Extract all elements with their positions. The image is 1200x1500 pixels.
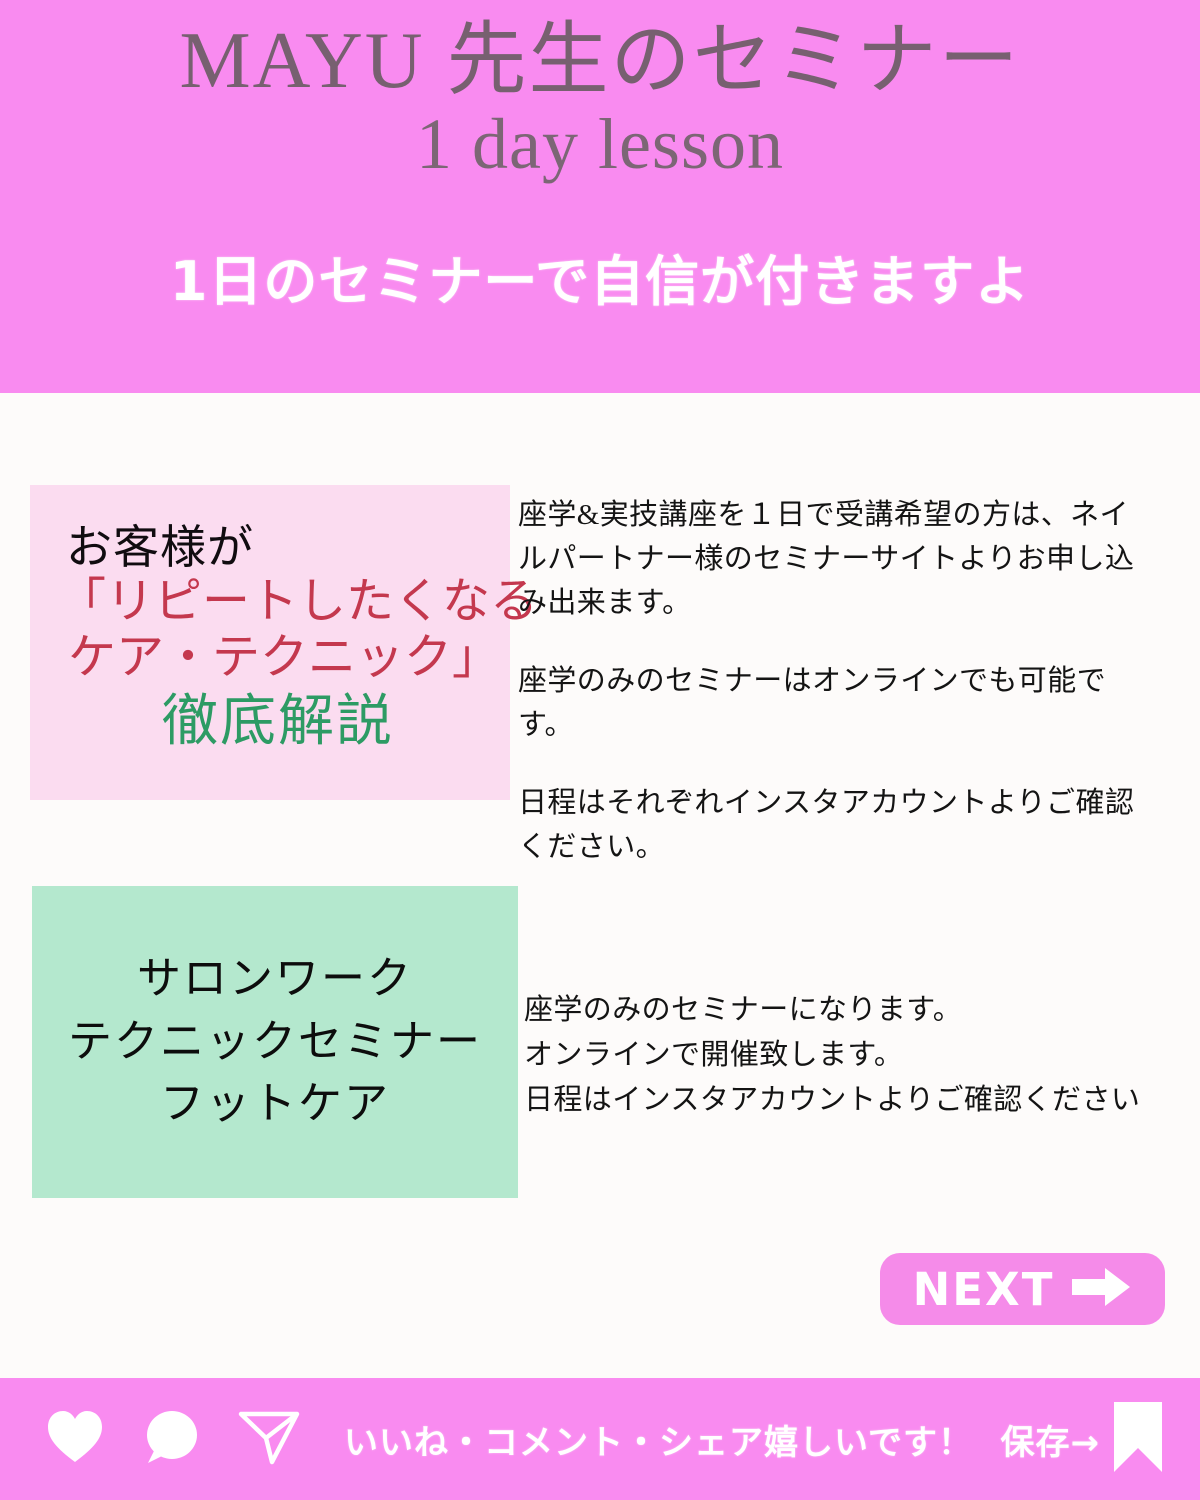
share-icon[interactable] xyxy=(238,1408,300,1471)
next-button-label: NEXT xyxy=(913,1267,1055,1312)
section-2-description: 座学のみのセミナーになります。 オンラインで開催致します。 日程はインスタアカウ… xyxy=(524,886,1182,1124)
green-box-line-2: テクニックセミナー xyxy=(68,1011,482,1073)
header-banner: MAYU 先生のセミナー 1 day lesson 1日のセミナーで自信が付きま… xyxy=(0,0,1200,393)
section-1-description: 座学&実技講座を１日で受講希望の方は、ネイルパートナー様のセミナーサイトよりお申… xyxy=(518,485,1158,870)
page-title-line-1: MAYU 先生のセミナー xyxy=(179,18,1020,104)
engagement-caption: いいね・コメント・シェア嬉しいです！ xyxy=(344,1415,973,1464)
green-highlight-box: サロンワーク テクニックセミナー フットケア xyxy=(32,886,518,1198)
section-2-paragraph-1: 座学のみのセミナーになります。 xyxy=(524,988,1182,1033)
engagement-icon-group xyxy=(46,1408,300,1471)
section-1-paragraph-2: 座学のみのセミナーはオンラインでも可能です。 xyxy=(518,659,1158,747)
section-salon-work-foot-care: サロンワーク テクニックセミナー フットケア 座学のみのセミナーになります。 オ… xyxy=(32,886,1182,1198)
next-button[interactable]: NEXT xyxy=(880,1253,1165,1325)
page-title-line-2: 1 day lesson xyxy=(416,104,784,185)
save-label: 保存→ xyxy=(1001,1415,1101,1464)
pink-highlight-box: お客様が 「リピートしたくなる ケア・テクニック」 徹底解説 xyxy=(30,485,510,800)
heart-icon[interactable] xyxy=(46,1410,104,1469)
green-box-line-1: サロンワーク xyxy=(137,948,413,1010)
section-2-paragraph-3: 日程はインスタアカウントよりご確認ください xyxy=(524,1078,1182,1123)
section-1-paragraph-1: 座学&実技講座を１日で受講希望の方は、ネイルパートナー様のセミナーサイトよりお申… xyxy=(518,493,1158,625)
pink-box-line-4: 徹底解説 xyxy=(30,685,510,756)
comment-icon[interactable] xyxy=(142,1409,200,1470)
section-seminar-care-technique: お客様が 「リピートしたくなる ケア・テクニック」 徹底解説 座学&実技講座を１… xyxy=(30,485,1180,870)
pink-box-line-1: お客様が xyxy=(30,522,510,574)
engagement-bar: いいね・コメント・シェア嬉しいです！ 保存→ xyxy=(0,1378,1200,1500)
pink-box-line-2: 「リピートしたくなる xyxy=(30,574,510,630)
section-1-paragraph-3: 日程はそれぞれインスタアカウントよりご確認ください。 xyxy=(518,781,1158,869)
pink-box-line-3: ケア・テクニック」 xyxy=(30,630,510,686)
save-group[interactable]: 保存→ xyxy=(1001,1400,1167,1479)
arrow-right-icon xyxy=(1072,1266,1132,1313)
section-2-paragraph-2: オンラインで開催致します。 xyxy=(524,1033,1182,1078)
page-subtitle: 1日のセミナーで自信が付きますよ xyxy=(170,237,1030,316)
bookmark-icon[interactable] xyxy=(1110,1400,1166,1479)
green-box-line-3: フットケア xyxy=(160,1073,390,1135)
